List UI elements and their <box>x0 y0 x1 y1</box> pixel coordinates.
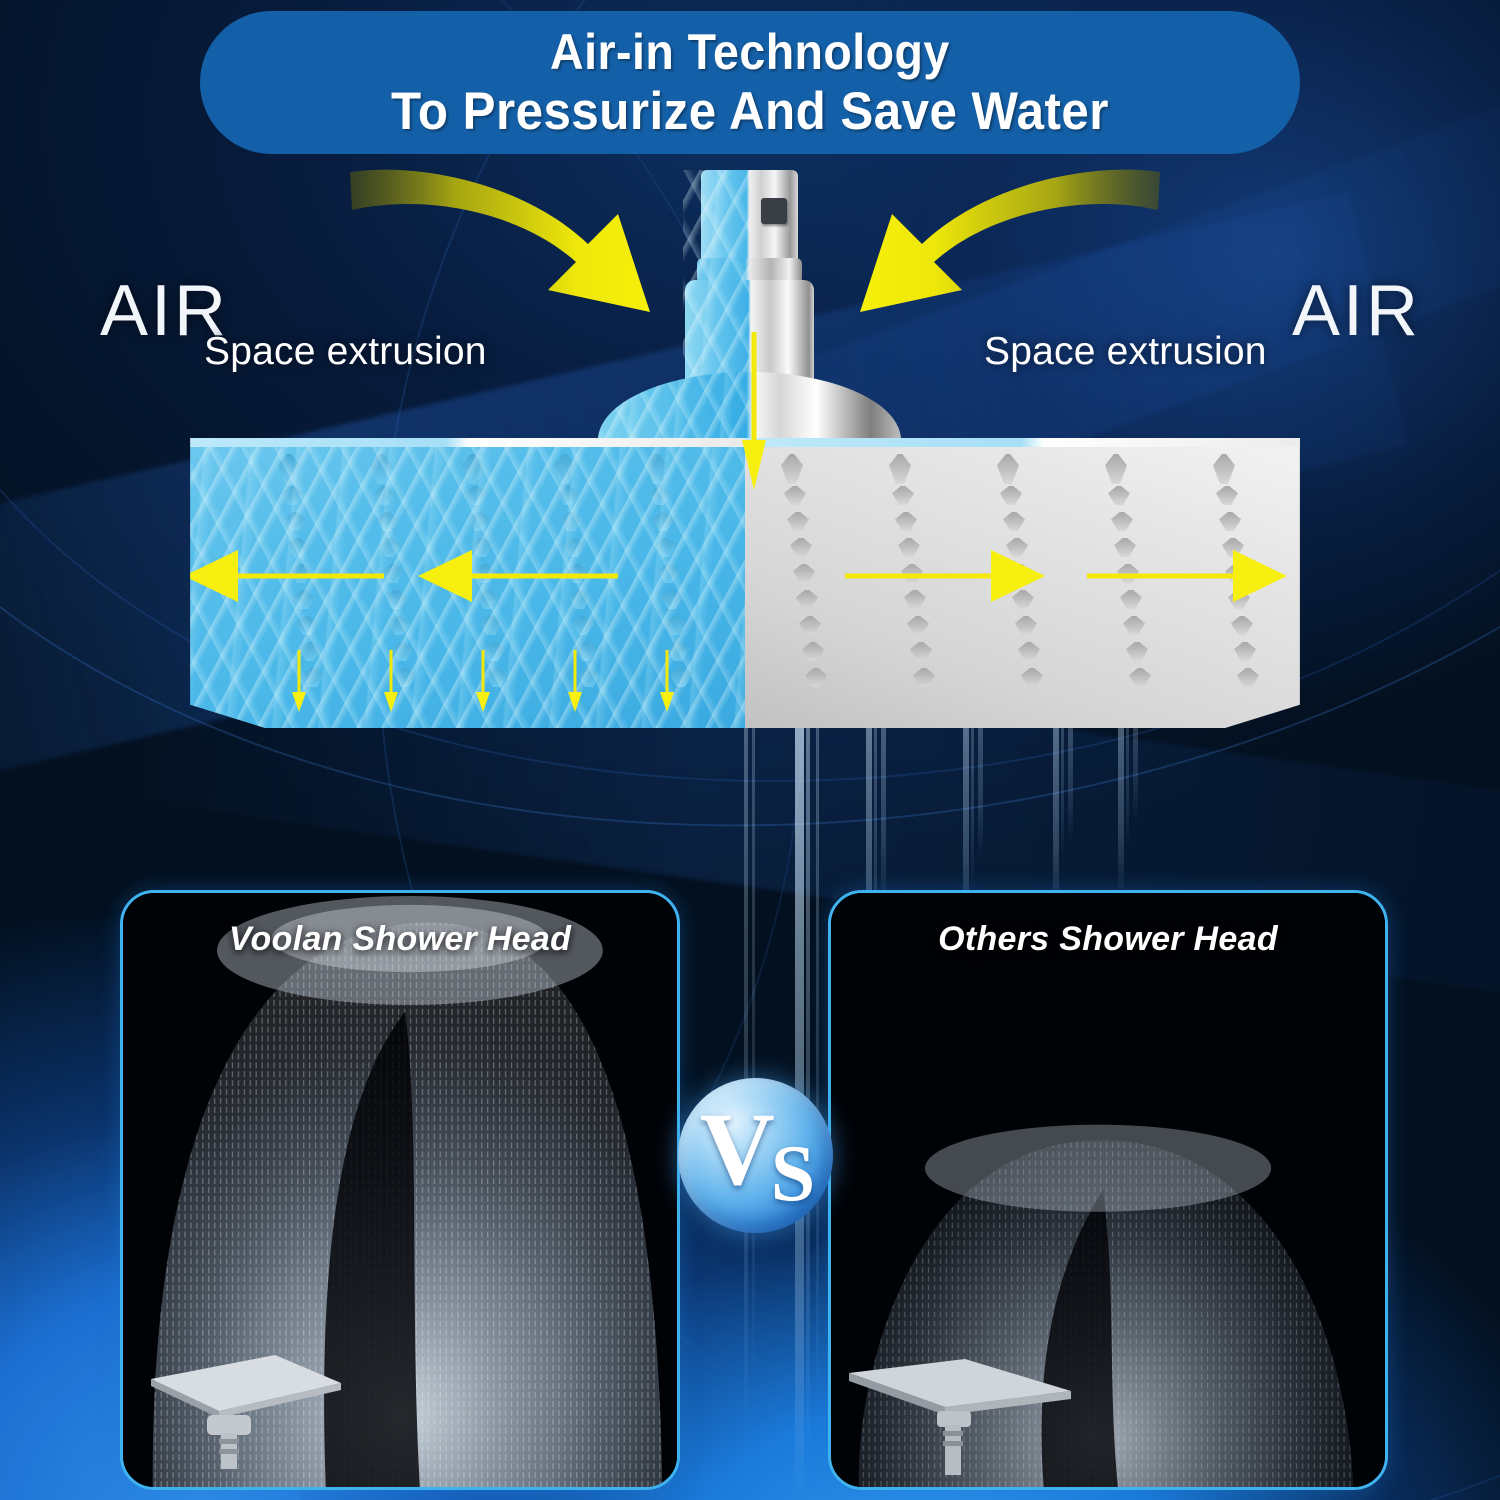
voolan-panel-label: Voolan Shower Head <box>123 920 677 959</box>
others-shower-head-icon <box>845 1335 1075 1475</box>
droplet-down-arrow-icon <box>384 650 398 712</box>
face-top-edge-right <box>745 438 1320 447</box>
neck-set-screw-icon <box>761 198 787 224</box>
face-top-edge-left <box>170 438 745 447</box>
face-half-chrome-side <box>745 438 1320 728</box>
air-inflow-arrow-left-icon <box>350 162 670 312</box>
voolan-shower-head-icon <box>145 1319 345 1469</box>
space-extrusion-caption-left: Space extrusion <box>204 330 487 374</box>
vs-badge: VS <box>678 1078 833 1233</box>
air-label-right: AIR <box>1292 270 1421 352</box>
droplet-down-arrow-icon <box>292 650 306 712</box>
comparison-panel-voolan[interactable]: Voolan Shower Head <box>120 890 680 1490</box>
face-half-water-side <box>170 438 745 728</box>
pressure-arrow-right-icon <box>1087 546 1287 606</box>
droplet-down-arrow-icon <box>476 650 490 712</box>
air-inflow-arrow-right-icon <box>840 162 1160 312</box>
headline-line-2: To Pressurize And Save Water <box>391 81 1109 143</box>
water-flow-down-arrow-icon <box>742 332 766 490</box>
headline-banner: Air-in Technology To Pressurize And Save… <box>200 11 1300 154</box>
nozzle-column <box>781 454 807 704</box>
pressure-arrow-right-icon <box>845 546 1045 606</box>
pressure-arrow-left-icon <box>418 546 618 606</box>
vs-badge-text: VS <box>700 1102 812 1206</box>
space-extrusion-caption-right: Space extrusion <box>984 330 1267 374</box>
headline-line-1: Air-in Technology <box>550 23 950 81</box>
air-in-diagram: AIR AIR Space extrusion Space extrusion <box>0 160 1500 920</box>
droplet-down-arrow-icon <box>660 650 674 712</box>
droplet-down-arrow-icon <box>568 650 582 712</box>
comparison-panel-others[interactable]: Others Shower Head <box>828 890 1388 1490</box>
pressure-arrow-left-icon <box>184 546 384 606</box>
others-panel-label: Others Shower Head <box>831 920 1385 959</box>
